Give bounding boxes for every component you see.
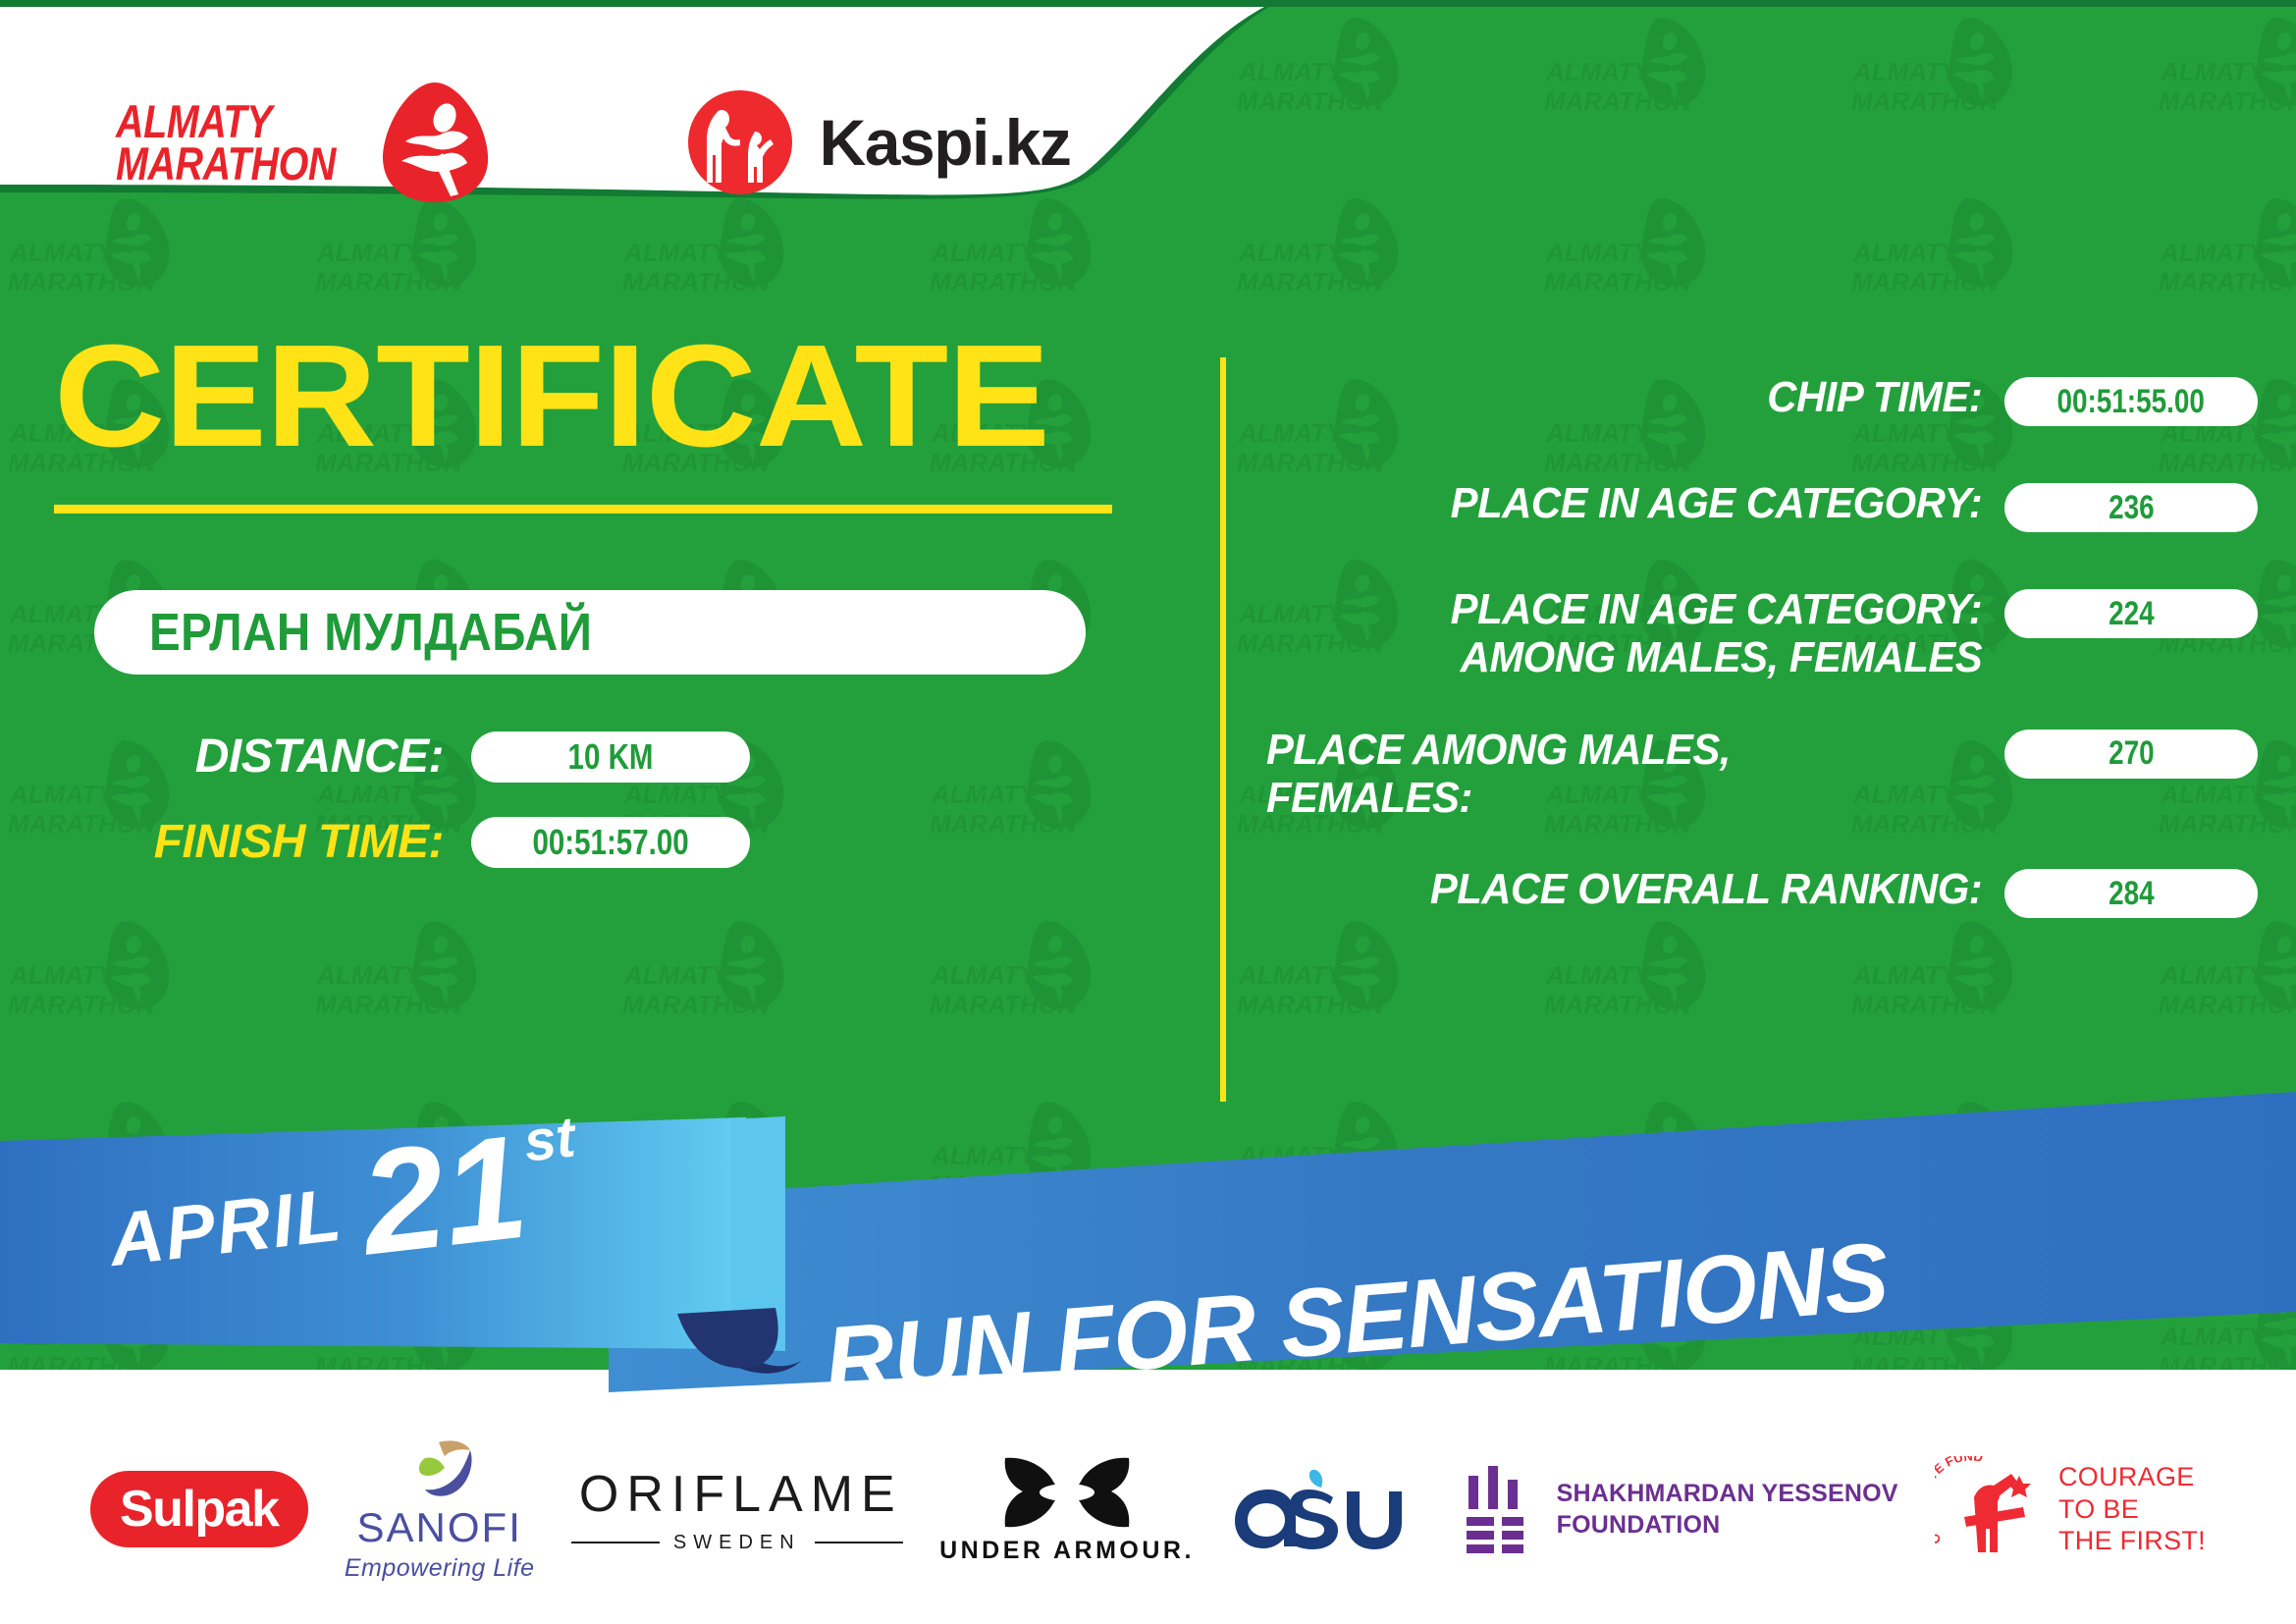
place-among-gender-label: PLACE AMONG MALES,FEMALES: [1266,726,1967,823]
place-age-category-gender-value-pill: 224 [2004,589,2258,638]
courage-wordmark: COURAGE TO BE THE FIRST! [2058,1461,2206,1558]
sponsor-strip: Sulpak SANOFI Empowering Life ORIFLAME S… [0,1394,2296,1624]
results-stats-column: CHIP TIME: 00:51:55.00 PLACE IN AGE CATE… [1266,373,2258,971]
place-age-category-row: PLACE IN AGE CATEGORY: 236 [1266,479,2258,542]
yessenov-line2: FOUNDATION [1557,1509,1898,1542]
chip-time-label: CHIP TIME: [1304,373,2004,421]
sponsor-courage-fund: CORPORATE FUND COURAGE TO BE THE FIRST! [1935,1456,2206,1562]
runner-drop-icon [376,79,494,206]
place-age-category-gender-row: PLACE IN AGE CATEGORY:AMONG MALES, FEMAL… [1266,585,2258,682]
asu-logo-icon [1231,1464,1421,1554]
distance-value-pill: 10 KM [471,731,750,783]
distance-and-time-rows: DISTANCE: 10 KM FINISH TIME: 00:51:57.00 [0,730,1188,869]
place-age-category-value: 236 [2109,489,2155,527]
chip-time-value: 00:51:55.00 [2057,383,2205,421]
kaspi-logo: Kaspi.kz [686,88,1071,196]
place-among-gender-row: PLACE AMONG MALES,FEMALES: 270 [1266,726,2258,823]
sanofi-leaf-icon [403,1436,476,1501]
participant-name-field: ЕРЛАН МУЛДАБАЙ [94,590,1086,675]
certificate-canvas: ALMATY MARATHON ALMATY MARATHON [0,0,2296,1624]
yessenov-bars-icon [1459,1462,1535,1556]
place-overall-label: PLACE OVERALL RANKING: [1304,865,2004,913]
place-age-category-label: PLACE IN AGE CATEGORY: [1304,479,2004,527]
event-day: 21 [355,1125,532,1264]
courage-line2: TO BE [2058,1493,2206,1526]
participant-name: ЕРЛАН МУЛДАБАЙ [149,602,592,663]
finish-time-label: FINISH TIME: [0,815,471,869]
chip-time-row: CHIP TIME: 00:51:55.00 [1266,373,2258,436]
place-age-category-gender-value: 224 [2109,595,2155,633]
almaty-marathon-line2: MARATHON [116,142,336,185]
place-among-gender-value-pill: 270 [2004,730,2258,779]
certificate-left-column: CERTIFICATE ЕРЛАН МУЛДАБАЙ DISTANCE: 10 … [0,324,1188,900]
sponsor-sulpak: Sulpak [90,1471,308,1547]
sulpak-logo: Sulpak [90,1471,308,1547]
sanofi-wordmark: SANOFI [357,1504,522,1551]
chip-time-value-pill: 00:51:55.00 [2004,377,2258,426]
place-age-category-gender-label: PLACE IN AGE CATEGORY:AMONG MALES, FEMAL… [1304,585,2004,682]
courage-figure-icon: CORPORATE FUND [1935,1456,2045,1562]
sulpak-wordmark: Sulpak [120,1481,279,1538]
yessenov-wordmark: SHAKHMARDAN YESSENOV FOUNDATION [1557,1478,1898,1542]
almaty-marathon-logo: ALMATY MARATHON [116,79,494,206]
almaty-marathon-wordmark: ALMATY MARATHON [116,100,336,185]
sanofi-tagline: Empowering Life [345,1554,535,1583]
distance-value: 10 KM [568,736,654,778]
place-overall-value-pill: 284 [2004,869,2258,918]
place-overall-value: 284 [2109,875,2155,913]
under-armour-icon [1001,1454,1133,1531]
sponsor-asu [1231,1464,1421,1554]
two-figures-circle-icon [686,88,794,196]
place-age-category-value-pill: 236 [2004,483,2258,532]
yessenov-line1: SHAKHMARDAN YESSENOV [1557,1478,1898,1510]
sponsor-under-armour: UNDER ARMOUR. [939,1454,1195,1565]
oriflame-rule-right [815,1542,903,1543]
title-underline [54,505,1112,514]
under-armour-wordmark: UNDER ARMOUR. [939,1537,1195,1565]
place-overall-row: PLACE OVERALL RANKING: 284 [1266,865,2258,928]
place-among-gender-value: 270 [2109,734,2155,773]
event-day-ordinal: st [520,1104,578,1174]
finish-time-value: 00:51:57.00 [532,822,688,863]
sponsor-oriflame: ORIFLAME SWEDEN [571,1465,903,1554]
almaty-marathon-line1: ALMATY [116,100,336,142]
header-logos: ALMATY MARATHON Kaspi.kz [0,0,1178,285]
oriflame-wordmark: ORIFLAME [571,1465,903,1524]
finish-time-value-pill: 00:51:57.00 [471,817,750,868]
finish-time-row: FINISH TIME: 00:51:57.00 [0,815,1188,869]
vertical-divider [1220,357,1226,1102]
event-month: APRIL [105,1172,347,1283]
kaspi-wordmark: Kaspi.kz [820,105,1071,180]
oriflame-tagline: SWEDEN [673,1532,801,1554]
certificate-title: CERTIFICATE [54,324,1255,469]
oriflame-rule-left [571,1542,660,1543]
courage-line1: COURAGE [2058,1461,2206,1493]
sponsor-yessenov-foundation: SHAKHMARDAN YESSENOV FOUNDATION [1459,1462,1898,1556]
oriflame-sub: SWEDEN [571,1532,903,1554]
distance-row: DISTANCE: 10 KM [0,730,1188,784]
sponsor-sanofi: SANOFI Empowering Life [345,1436,535,1583]
distance-label: DISTANCE: [0,730,471,784]
courage-line3: THE FIRST! [2058,1525,2206,1557]
